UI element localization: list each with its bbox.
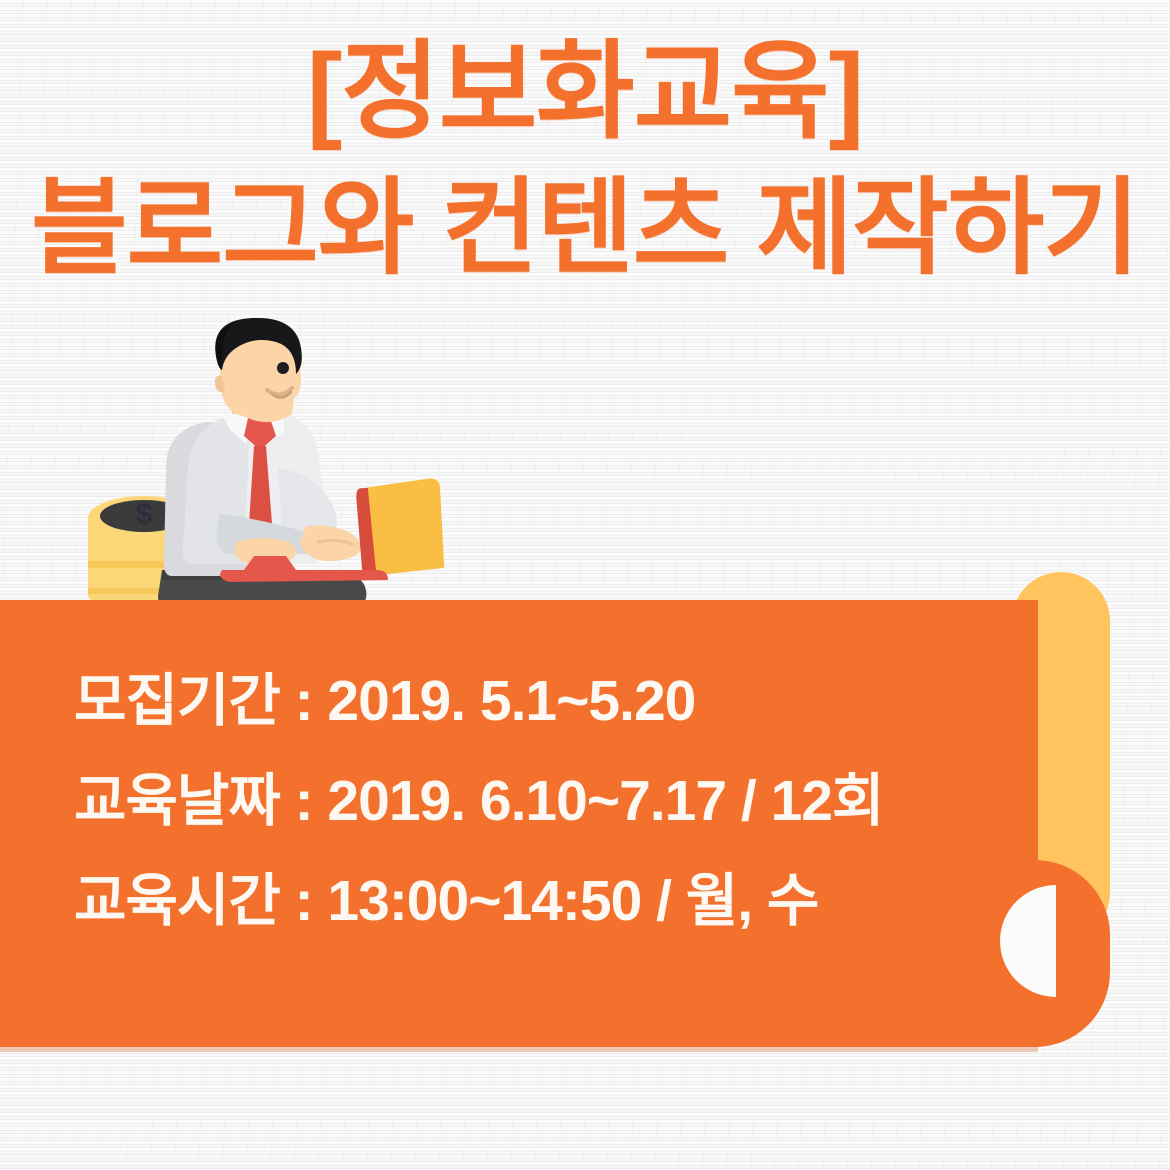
poster-title-block: [정보화교육] 블로그와 컨텐츠 제작하기	[0, 34, 1170, 285]
scroll-band-shadow	[0, 1047, 1038, 1052]
poster-title-line-2: 블로그와 컨텐츠 제작하기	[0, 172, 1170, 285]
info-line-recruitment-period: 모집기간 : 2019. 5.1~5.20	[74, 673, 1024, 730]
dollar-sign-icon: $	[136, 498, 153, 531]
eye	[277, 362, 289, 374]
course-info-block: 모집기간 : 2019. 5.1~5.20 교육날짜 : 2019. 6.10~…	[74, 673, 1024, 930]
info-line-course-time: 교육시간 : 13:00~14:50 / 월, 수	[74, 873, 1024, 930]
poster-canvas: [정보화교육] 블로그와 컨텐츠 제작하기 $	[0, 0, 1170, 1170]
poster-title-line-1: [정보화교육]	[0, 34, 1170, 150]
info-line-course-dates: 교육날짜 : 2019. 6.10~7.17 / 12회	[74, 773, 1024, 830]
